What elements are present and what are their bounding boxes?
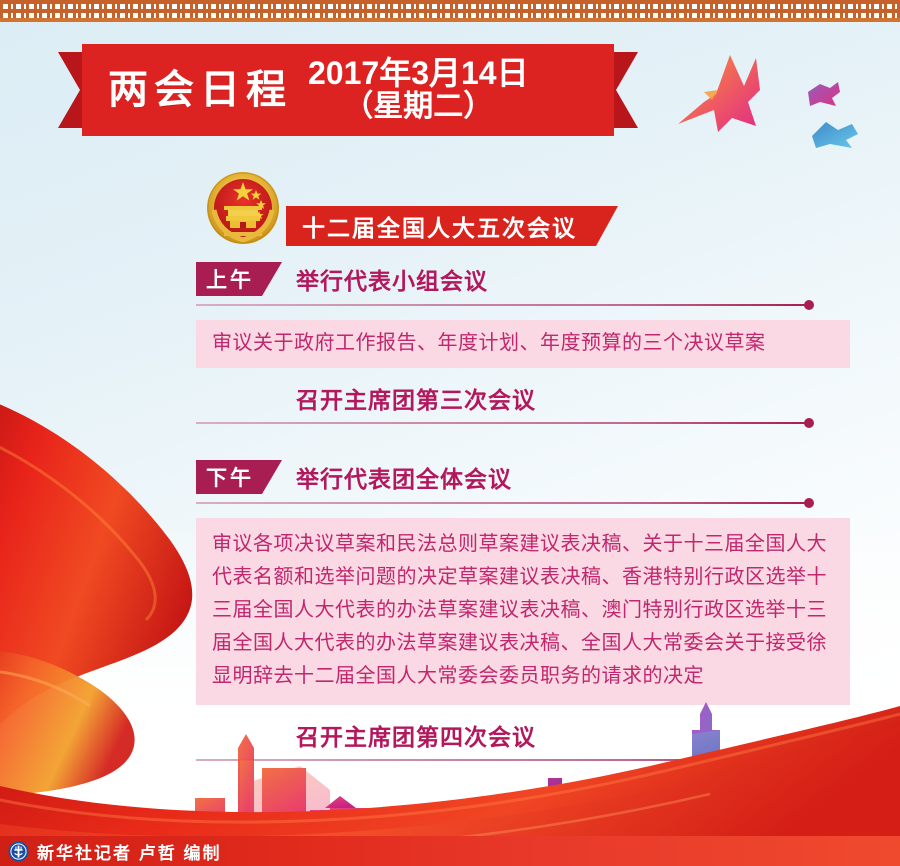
morning-plain-label: 召开主席团第三次会议	[296, 381, 536, 415]
section-banner: 十二届全国人大五次会议	[286, 206, 618, 246]
schedule-row-afternoon-head: 下午 举行代表团全体会议	[196, 456, 862, 498]
credit-text: 新华社记者 卢哲 编制	[37, 839, 221, 864]
header-ribbon: 两会日程 2017年3月14日 （星期二）	[58, 44, 638, 136]
header-date: 2017年3月14日 （星期二）	[308, 57, 529, 123]
dove-blue-icon	[812, 122, 858, 148]
morning-plain-row: 召开主席团第三次会议	[196, 378, 862, 418]
divider-dot-icon	[804, 418, 814, 428]
schedule-row-morning-head: 上午 举行代表小组会议	[196, 258, 862, 300]
morning-heading: 举行代表小组会议	[296, 262, 488, 296]
divider-line	[196, 498, 862, 508]
dove-orange-icon	[678, 55, 760, 132]
section-banner-label: 十二届全国人大五次会议	[302, 209, 577, 243]
schedule-content: 十二届全国人大五次会议 上午 举行代表小组会议 审议关于政府工作报告、年度计划、…	[196, 206, 862, 765]
divider-line	[196, 418, 862, 428]
time-tag-morning: 上午	[196, 262, 282, 296]
morning-panel: 审议关于政府工作报告、年度计划、年度预算的三个决议草案	[196, 320, 850, 368]
header-date-line2: （星期二）	[308, 91, 529, 123]
doves-decoration	[660, 40, 900, 160]
page-title: 两会日程	[108, 70, 292, 110]
xinhua-logo-icon	[8, 841, 29, 862]
credit-bar: 新华社记者 卢哲 编制	[0, 836, 900, 866]
divider-dot-icon	[804, 300, 814, 310]
divider-dot-icon	[804, 498, 814, 508]
afternoon-panel: 审议各项决议草案和民法总则草案建议表决稿、关于十三届全国人大代表名额和选举问题的…	[196, 518, 850, 705]
header-date-line1: 2017年3月14日	[308, 57, 529, 91]
infographic-page: 两会日程 2017年3月14日 （星期二）	[0, 0, 900, 866]
dove-purple-icon	[808, 82, 840, 106]
divider-line	[196, 300, 862, 310]
time-tag-morning-label: 上午	[206, 264, 254, 294]
meander-border-icon	[0, 0, 900, 22]
afternoon-heading: 举行代表团全体会议	[296, 460, 512, 494]
header-ribbon-body: 两会日程 2017年3月14日 （星期二）	[82, 44, 614, 136]
